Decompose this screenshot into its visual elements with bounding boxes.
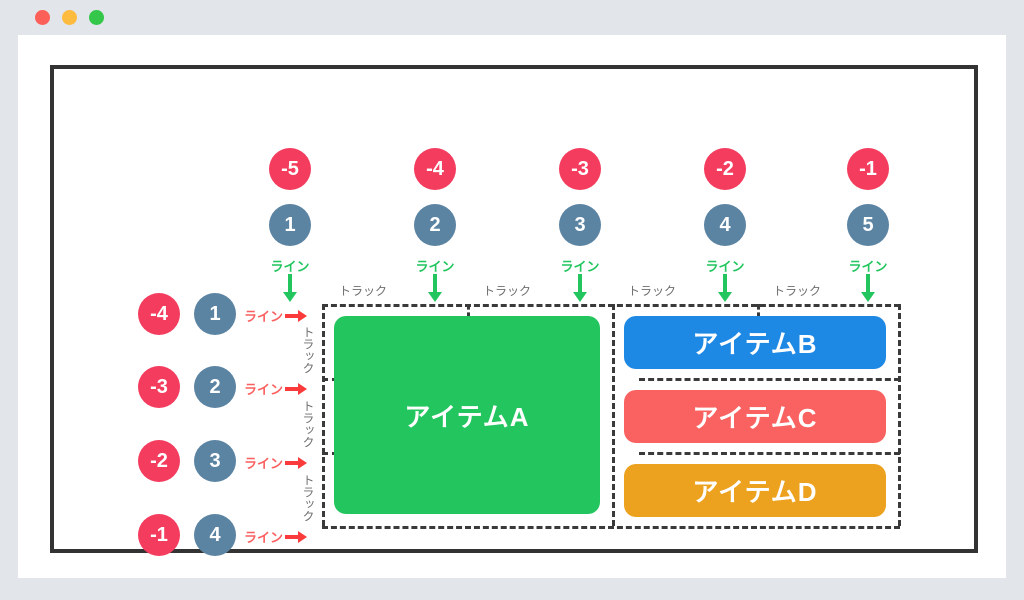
column-track-label-1: トラック bbox=[339, 282, 387, 299]
column-line-positive-1: 1 bbox=[269, 204, 311, 246]
row-line-negative-2: -3 bbox=[138, 366, 180, 408]
column-line-label-4: ライン bbox=[705, 256, 744, 275]
row-line-positive-3: 3 bbox=[194, 440, 236, 482]
column-line-negative-3: -3 bbox=[559, 148, 601, 190]
minimize-button[interactable] bbox=[62, 10, 77, 25]
column-line-label-3: ライン bbox=[560, 256, 599, 275]
row-line-positive-1: 1 bbox=[194, 293, 236, 335]
column-line-negative-1: -5 bbox=[269, 148, 311, 190]
row-track-label-2: トラック bbox=[300, 400, 317, 448]
column-track-label-4: トラック bbox=[773, 282, 821, 299]
row-line-arrow-4 bbox=[285, 530, 307, 543]
grid-row-line-1 bbox=[322, 304, 900, 307]
grid-column-line-3 bbox=[612, 304, 615, 526]
grid-container: アイテムA アイテムB アイテムC アイテムD bbox=[322, 304, 900, 536]
column-line-label-5: ライン bbox=[848, 256, 887, 275]
row-track-label-3: トラック bbox=[300, 474, 317, 522]
column-line-positive-4: 4 bbox=[704, 204, 746, 246]
column-line-label-1: ライン bbox=[270, 256, 309, 275]
column-line-arrow-1 bbox=[283, 274, 297, 302]
column-line-arrow-3 bbox=[573, 274, 587, 302]
grid-row-line-3 bbox=[639, 452, 900, 455]
row-line-1: ライン bbox=[244, 306, 307, 325]
column-line-label-2: ライン bbox=[415, 256, 454, 275]
grid-item-b[interactable]: アイテムB bbox=[624, 316, 886, 369]
close-button[interactable] bbox=[35, 10, 50, 25]
browser-window: -5 1 ライン -4 2 ライン -3 3 ライン -2 4 ライン -1 5… bbox=[18, 0, 1006, 580]
row-line-2: ライン bbox=[244, 379, 307, 398]
column-line-positive-2: 2 bbox=[414, 204, 456, 246]
row-line-arrow-3 bbox=[285, 456, 307, 469]
column-track-label-3: トラック bbox=[628, 282, 676, 299]
row-line-3: ライン bbox=[244, 453, 307, 472]
column-line-negative-5: -1 bbox=[847, 148, 889, 190]
row-line-positive-2: 2 bbox=[194, 366, 236, 408]
row-line-label-4: ライン bbox=[244, 527, 283, 546]
grid-item-d[interactable]: アイテムD bbox=[624, 464, 886, 517]
grid-column-line-1 bbox=[322, 304, 325, 526]
grid-diagram: -5 1 ライン -4 2 ライン -3 3 ライン -2 4 ライン -1 5… bbox=[50, 65, 978, 553]
row-line-negative-3: -2 bbox=[138, 440, 180, 482]
row-line-label-1: ライン bbox=[244, 306, 283, 325]
grid-row-line-2 bbox=[639, 378, 900, 381]
row-line-label-2: ライン bbox=[244, 379, 283, 398]
column-line-negative-2: -4 bbox=[414, 148, 456, 190]
column-line-positive-3: 3 bbox=[559, 204, 601, 246]
maximize-button[interactable] bbox=[89, 10, 104, 25]
row-line-positive-4: 4 bbox=[194, 514, 236, 556]
column-line-arrow-2 bbox=[428, 274, 442, 302]
row-line-4: ライン bbox=[244, 527, 307, 546]
column-line-arrow-5 bbox=[861, 274, 875, 302]
window-titlebar bbox=[18, 0, 1006, 35]
page-canvas: -5 1 ライン -4 2 ライン -3 3 ライン -2 4 ライン -1 5… bbox=[18, 35, 1006, 578]
row-track-label-1: トラック bbox=[300, 326, 317, 374]
column-line-negative-4: -2 bbox=[704, 148, 746, 190]
grid-item-c[interactable]: アイテムC bbox=[624, 390, 886, 443]
row-line-label-3: ライン bbox=[244, 453, 283, 472]
row-line-arrow-1 bbox=[285, 309, 307, 322]
row-line-arrow-2 bbox=[285, 382, 307, 395]
column-line-positive-5: 5 bbox=[847, 204, 889, 246]
grid-item-a[interactable]: アイテムA bbox=[334, 316, 600, 514]
row-line-negative-1: -4 bbox=[138, 293, 180, 335]
column-track-label-2: トラック bbox=[483, 282, 531, 299]
column-line-arrow-4 bbox=[718, 274, 732, 302]
grid-row-line-4 bbox=[322, 526, 900, 529]
grid-column-line-5 bbox=[898, 304, 901, 526]
row-line-negative-4: -1 bbox=[138, 514, 180, 556]
